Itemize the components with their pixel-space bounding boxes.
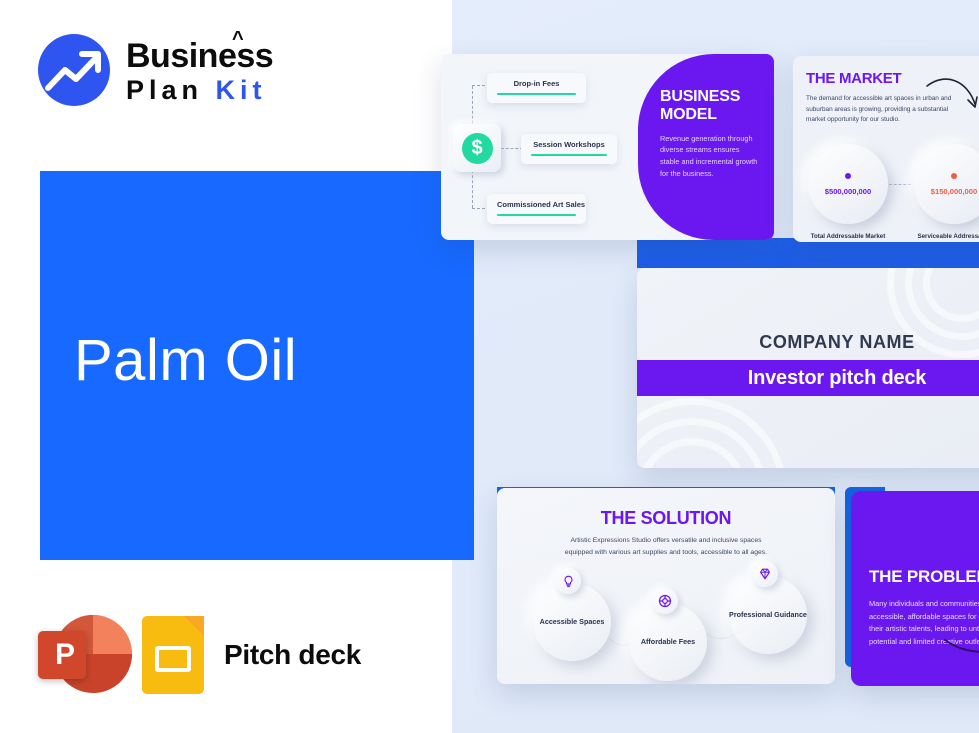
brand-line-1-text: Business	[126, 37, 273, 75]
solution-title: THE SOLUTION	[497, 508, 835, 529]
trend-arrow-circle-icon	[38, 34, 110, 106]
company-title-slide[interactable]: COMPANY NAME Investor pitch deck	[637, 268, 979, 468]
deck-title: Palm Oil	[74, 327, 297, 394]
brand-line-1: Business ^	[126, 39, 273, 73]
powerpoint-wedge-light	[93, 615, 132, 654]
market-stat-value: $150,000,000	[931, 187, 977, 196]
background-blue-strip-top	[637, 238, 979, 268]
brand-line-2-plain: Plan	[126, 75, 203, 105]
market-stat-sam[interactable]: $150,000,000 Serviceable Addressable Mar…	[910, 144, 979, 242]
business-model-title: BUSINESS MODEL	[660, 88, 760, 124]
company-subtitle: Investor pitch deck	[748, 367, 926, 390]
market-stats: $500,000,000 Total Addressable Market (T…	[804, 144, 979, 242]
format-label: Pitch deck	[224, 639, 361, 671]
solution-pillar[interactable]: Professional Guidance	[729, 576, 807, 654]
solution-pillar[interactable]: Affordable Fees	[629, 603, 707, 681]
solution-pillar[interactable]: Accessible Spaces	[533, 583, 611, 661]
the-solution-slide[interactable]: THE SOLUTION Artistic Expressions Studio…	[497, 488, 835, 684]
the-market-slide[interactable]: THE MARKET The demand for accessible art…	[793, 56, 979, 242]
diagram-connector-mid	[501, 148, 523, 149]
powerpoint-card: P	[38, 631, 86, 679]
problem-title: THE PROBLEM	[869, 567, 979, 587]
brand-line-2: Plan Kit	[126, 77, 273, 104]
revenue-stream-item[interactable]: Session Workshops	[521, 134, 617, 164]
business-model-diagram: $ Drop-in Fees Session Workshops Commiss…	[441, 54, 647, 240]
business-model-body: Revenue generation through diverse strea…	[660, 133, 760, 180]
slides-screen-glyph	[155, 646, 191, 672]
promo-canvas: Business ^ Plan Kit Palm Oil P	[0, 0, 979, 733]
market-stat-tam[interactable]: $500,000,000 Total Addressable Market (T…	[804, 144, 892, 242]
solution-body: Artistic Expressions Studio offers versa…	[557, 535, 775, 559]
slides-fold	[184, 616, 204, 636]
brand-logo: Business ^ Plan Kit	[38, 34, 273, 106]
market-stat-orb: $150,000,000	[914, 144, 979, 224]
powerpoint-icon: P	[38, 613, 122, 697]
brand-accent-hat: ^	[232, 29, 243, 49]
market-body: The demand for accessible art spaces in …	[806, 94, 958, 126]
curved-swoosh-icon	[943, 636, 979, 658]
business-model-slide[interactable]: $ Drop-in Fees Session Workshops Commiss…	[441, 54, 774, 240]
revenue-stream-label: Session Workshops	[531, 140, 607, 149]
brand-line-2-accent: Kit	[216, 75, 267, 105]
target-circle-icon	[652, 588, 678, 614]
company-name: COMPANY NAME	[637, 332, 979, 353]
diamond-icon	[752, 561, 778, 587]
revenue-stream-item[interactable]: Drop-in Fees	[487, 73, 586, 103]
market-title: THE MARKET	[806, 70, 901, 87]
revenue-stream-label: Commissioned Art Sales	[497, 200, 576, 209]
solution-pillar-label: Affordable Fees	[641, 637, 695, 647]
purple-dot-icon	[845, 173, 851, 179]
coral-dot-icon	[951, 173, 957, 179]
brand-wordmark: Business ^ Plan Kit	[126, 37, 273, 104]
lightbulb-icon	[555, 568, 581, 594]
solution-pillar-label: Accessible Spaces	[540, 617, 605, 627]
powerpoint-glyph: P	[55, 640, 75, 670]
google-slides-icon	[142, 616, 204, 694]
revenue-stream-item[interactable]: Commissioned Art Sales	[487, 194, 586, 224]
revenue-stream-label: Drop-in Fees	[497, 79, 576, 88]
the-problem-slide[interactable]: THE PROBLEM Many individuals and communi…	[851, 491, 979, 686]
market-stat-caption: Total Addressable Market (TAM)	[804, 233, 892, 242]
format-row: P Pitch deck	[38, 613, 361, 697]
market-stat-orb: $500,000,000	[808, 144, 888, 224]
solution-pillar-label: Professional Guidance	[729, 610, 807, 620]
powerpoint-wedge-dark	[93, 654, 132, 693]
market-stat-caption: Serviceable Addressable Market (SAM)	[910, 233, 979, 242]
company-subtitle-band: Investor pitch deck	[637, 360, 979, 396]
dollar-coin-icon: $	[453, 124, 501, 172]
business-model-panel: BUSINESS MODEL Revenue generation throug…	[638, 54, 774, 240]
market-stat-value: $500,000,000	[825, 187, 871, 196]
dollar-glyph: $	[462, 133, 493, 164]
